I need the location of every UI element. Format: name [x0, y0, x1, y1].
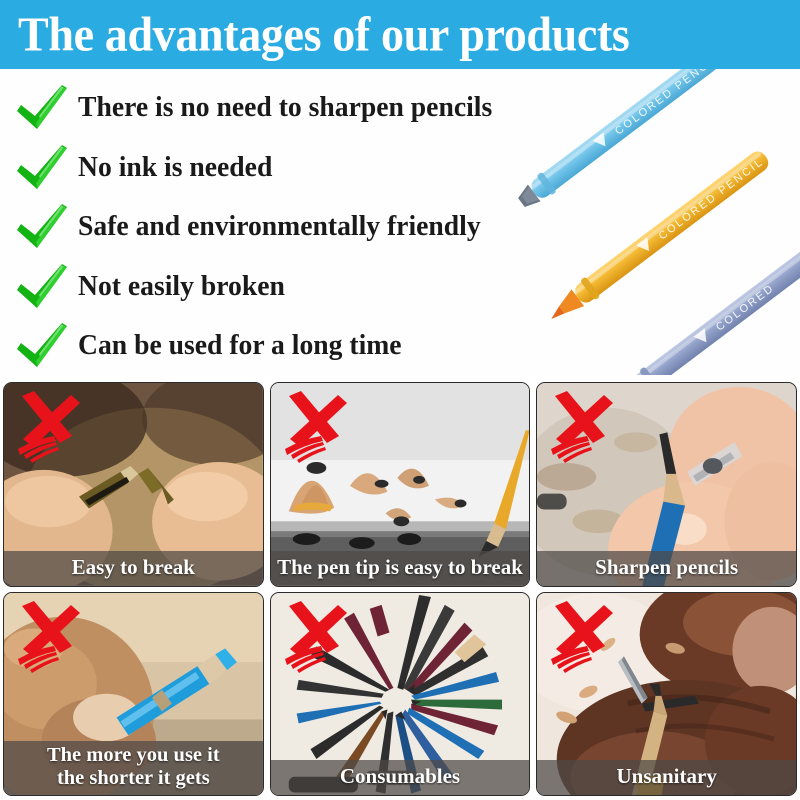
drawback-caption: Easy to break: [4, 551, 263, 586]
drawback-tile[interactable]: The pen tip is easy to break: [270, 382, 531, 587]
advantages-list: There is no need to sharpen pencils No i…: [0, 69, 800, 375]
advantage-item: No ink is needed: [14, 141, 278, 195]
advantage-label: Safe and environmentally friendly: [78, 211, 481, 243]
advantage-item: Can be used for a long time: [14, 319, 412, 373]
drawbacks-photo-grid: Easy to break: [0, 380, 800, 800]
advantage-label: Can be used for a long time: [78, 330, 402, 362]
green-check-icon: [14, 262, 70, 312]
drawback-caption: The more you use it the shorter it gets: [4, 741, 263, 795]
drawback-caption: Sharpen pencils: [537, 551, 796, 586]
header-banner: The advantages of our products: [0, 0, 800, 69]
drawback-tile[interactable]: Sharpen pencils: [536, 382, 797, 587]
red-cross-icon: [10, 597, 88, 675]
advantage-item: There is no need to sharpen pencils: [14, 81, 505, 135]
red-cross-icon: [277, 597, 355, 675]
red-cross-icon: [10, 387, 88, 465]
red-cross-icon: [277, 387, 355, 465]
drawback-caption: Consumables: [271, 760, 530, 795]
advantage-item: Not easily broken: [14, 260, 291, 314]
page-title: The advantages of our products: [18, 9, 629, 58]
advantage-item: Safe and environmentally friendly: [14, 200, 493, 254]
advantage-label: Not easily broken: [78, 271, 285, 303]
green-check-icon: [14, 143, 70, 193]
red-cross-icon: [543, 387, 621, 465]
green-check-icon: [14, 83, 70, 133]
drawback-tile[interactable]: The more you use it the shorter it gets: [3, 592, 264, 797]
drawback-tile[interactable]: Consumables: [270, 592, 531, 797]
green-check-icon: [14, 321, 70, 371]
drawback-caption: Unsanitary: [537, 760, 796, 795]
green-check-icon: [14, 202, 70, 252]
advantage-label: No ink is needed: [78, 152, 272, 184]
drawback-tile[interactable]: Unsanitary: [536, 592, 797, 797]
advantage-label: There is no need to sharpen pencils: [78, 92, 492, 124]
red-cross-icon: [543, 597, 621, 675]
drawback-tile[interactable]: Easy to break: [3, 382, 264, 587]
drawback-caption: The pen tip is easy to break: [271, 551, 530, 586]
